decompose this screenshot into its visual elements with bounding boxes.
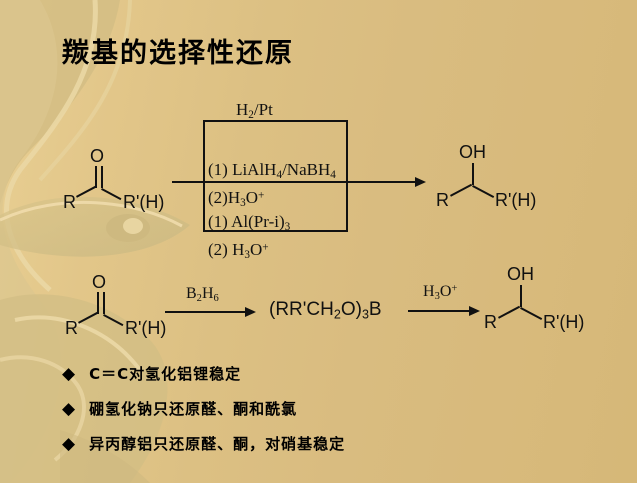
page-title: 羰基的选择性还原 [62, 31, 294, 70]
scheme1-box-line-2-formula-b: O [246, 188, 258, 207]
scheme2-product-left-bond [498, 306, 520, 319]
scheme2-product-right-bond [520, 307, 542, 320]
scheme2-reagent-2-h: H [423, 283, 435, 300]
scheme2-intermediate-middle: O) [341, 299, 362, 320]
scheme2-reactant-oxygen-label: O [92, 272, 106, 293]
scheme1-product-ch-o-bond [472, 163, 474, 185]
scheme1-below-box-formula-b: O [250, 240, 262, 259]
scheme1-box-line-1-slash: /NaBH [282, 160, 330, 179]
bullet-item-3-label: 异丙醇铝只还原醛、酮，对硝基稳定 [89, 433, 345, 454]
scheme2-reagent-2-o: O [440, 283, 452, 300]
scheme2-intermediate: (RR'CH2O)3B [269, 299, 382, 322]
scheme2-reactant-left-group: R [65, 318, 78, 339]
bullet-item-1-label: C＝C对氢化铝锂稳定 [89, 363, 241, 384]
bullet-item-3: ◆ 异丙醇铝只还原醛、酮，对硝基稳定 [62, 433, 345, 454]
scheme2-reactant-right-bond [103, 314, 123, 326]
scheme2-intermediate-sub-1: 2 [334, 308, 341, 322]
scheme1-reactant-double-bond-line-2 [101, 166, 103, 188]
scheme2-intermediate-sub-2: 3 [362, 308, 369, 322]
bullet-item-1: ◆ C＝C对氢化铝锂稳定 [62, 363, 241, 384]
scheme1-reactant-left-group: R [63, 192, 76, 213]
scheme1-product-right-group: R'(H) [495, 190, 536, 211]
scheme2-reagent-1: B2H6 [186, 285, 219, 304]
diamond-bullet-icon: ◆ [62, 435, 75, 452]
scheme2-reactant-double-bond-line-2 [103, 292, 105, 314]
scheme1-box-line-1-number: (1) [208, 160, 228, 179]
scheme2-reagent-1-h: H [202, 285, 214, 302]
scheme1-box-line-2-number: (2) [208, 188, 228, 207]
scheme1-reactant-left-bond [76, 186, 96, 198]
scheme1-box-line-1-sub-b: 4 [330, 169, 336, 181]
scheme2-reactant-left-bond [78, 312, 98, 324]
bullet-item-2: ◆ 硼氢化钠只还原醛、酮和酰氯 [62, 398, 297, 419]
presentation-slide: 羰基的选择性还原 O R R'(H) H2/Pt (1) LiAlH4/NaBH… [0, 0, 637, 483]
scheme2-reagent-1-b: B [186, 285, 197, 302]
scheme2-arrow-1-head [245, 307, 256, 317]
scheme1-box-line-3-number: (1) [208, 212, 228, 231]
diamond-bullet-icon: ◆ [62, 365, 75, 382]
scheme1-box-line-2-sup-b: + [258, 189, 264, 201]
scheme2-product-right-group: R'(H) [543, 312, 584, 333]
scheme1-product-right-bond [472, 185, 494, 198]
scheme1-box-line-3-formula-a: Al(Pr-i) [231, 212, 284, 231]
scheme1-box-line-1-formula-a: LiAlH [232, 160, 276, 179]
scheme1-top-reagent: H2/Pt [236, 100, 273, 121]
scheme1-reactant-right-group: R'(H) [123, 192, 164, 213]
scheme2-reagent-2: H3O+ [423, 283, 457, 302]
scheme1-reactant-oxygen-label: O [90, 146, 104, 167]
scheme1-below-box-number: (2) [208, 240, 228, 259]
diamond-bullet-icon: ◆ [62, 400, 75, 417]
scheme1-top-reagent-h: H [236, 100, 248, 119]
scheme1-top-reagent-rest: /Pt [254, 100, 273, 119]
scheme1-below-box-line: (2) H3O+ [208, 240, 269, 261]
scheme1-product-left-bond [450, 184, 472, 197]
scheme2-arrow-1-line [165, 311, 250, 313]
scheme2-reactant-right-group: R'(H) [125, 318, 166, 339]
scheme2-product-hydroxyl-label: OH [507, 264, 534, 285]
scheme2-product-ch-o-bond [520, 285, 522, 307]
scheme1-reactant-right-bond [101, 188, 121, 200]
scheme1-box-line-2-formula-a: H [228, 188, 240, 207]
scheme1-reaction-arrow-head [415, 177, 426, 187]
scheme2-intermediate-suffix: B [369, 299, 382, 320]
scheme1-below-box-sup-b: + [262, 241, 268, 253]
scheme1-product-hydroxyl-label: OH [459, 142, 486, 163]
scheme2-reagent-2-sup: + [451, 284, 457, 295]
scheme2-arrow-2-head [469, 306, 480, 316]
scheme2-intermediate-prefix: (RR'CH [269, 299, 334, 320]
scheme1-below-box-formula-a: H [232, 240, 244, 259]
scheme2-product-left-group: R [484, 312, 497, 333]
scheme1-box-line-1: (1) LiAlH4/NaBH4 [208, 160, 336, 181]
scheme2-reagent-1-sub-2: 6 [214, 293, 219, 304]
scheme1-product-left-group: R [436, 190, 449, 211]
scheme1-box-line-3: (1) Al(Pr-i)3 [208, 212, 290, 233]
bullet-item-2-label: 硼氢化钠只还原醛、酮和酰氯 [89, 398, 297, 419]
scheme1-box-line-3-sub-a: 3 [285, 221, 291, 233]
scheme1-box-line-2: (2)H3O+ [208, 188, 264, 209]
scheme2-arrow-2-line [408, 310, 474, 312]
